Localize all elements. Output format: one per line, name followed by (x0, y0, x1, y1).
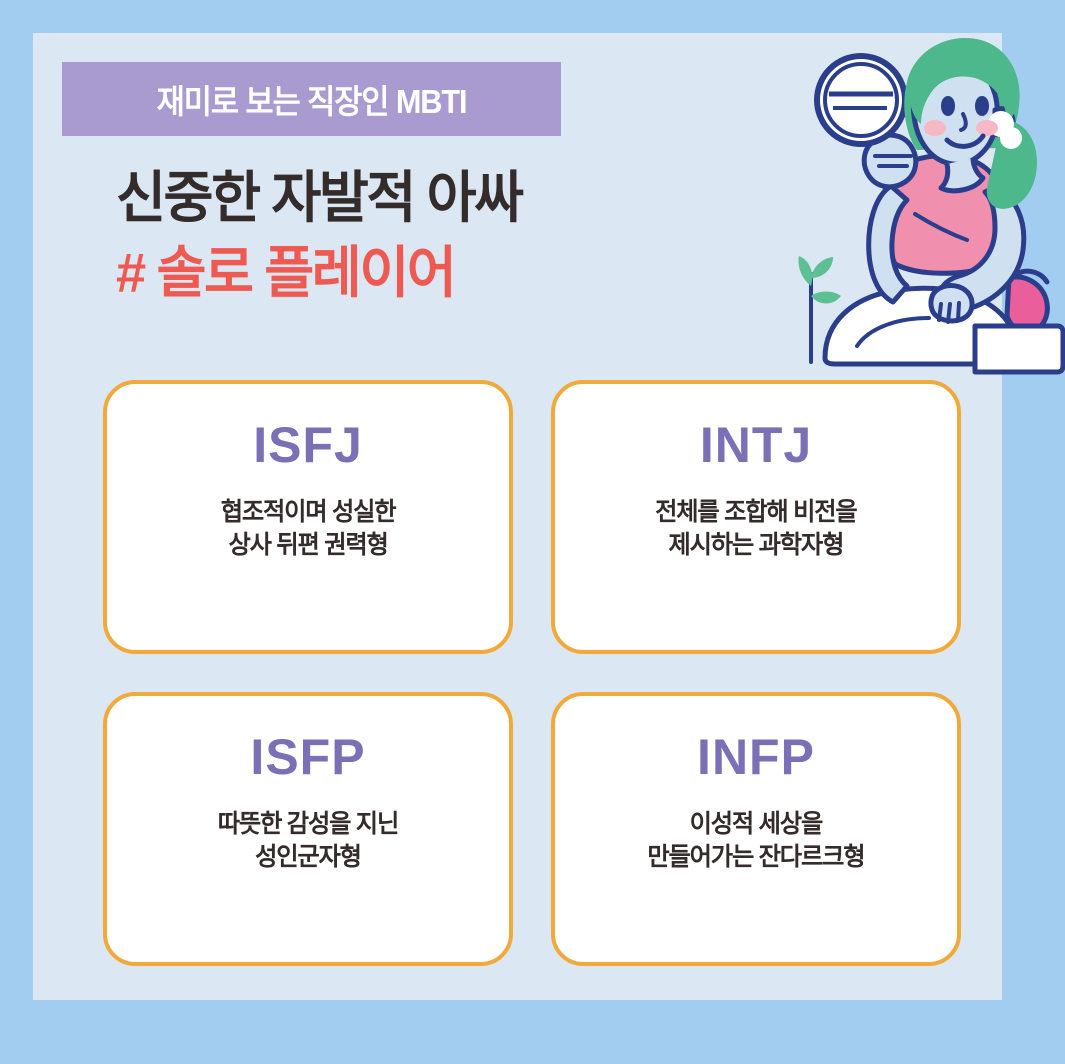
mbti-card-infp[interactable]: INFP 이성적 세상을 만들어가는 잔다르크형 (551, 692, 961, 966)
mbti-description: 전체를 조합해 비전을 제시하는 과학자형 (655, 496, 856, 562)
mbti-description: 이성적 세상을 만들어가는 잔다르크형 (647, 808, 864, 874)
poster-canvas: 재미로 보는 직장인 MBTI 신중한 자발적 아싸 # 솔로 플레이어 (0, 0, 1065, 1064)
mbti-code: INFP (697, 732, 815, 782)
mbti-description: 협조적이며 성실한 상사 뒤편 권력형 (221, 496, 396, 562)
category-badge-label: 재미로 보는 직장인 MBTI (157, 75, 467, 123)
mbti-description: 따뜻한 감성을 지닌 성인군자형 (218, 808, 398, 874)
page-title: 신중한 자발적 아싸 # 솔로 플레이어 (116, 160, 736, 310)
title-line-hashtag: # 솔로 플레이어 (116, 235, 717, 310)
mbti-card-grid: ISFJ 협조적이며 성실한 상사 뒤편 권력형 INTJ 전체를 조합해 비전… (103, 380, 961, 966)
mbti-code: INTJ (700, 420, 812, 470)
title-line-primary: 신중한 자발적 아싸 (116, 160, 717, 235)
mbti-card-isfj[interactable]: ISFJ 협조적이며 성실한 상사 뒤편 권력형 (103, 380, 513, 654)
mbti-code: ISFP (250, 732, 365, 782)
mbti-card-isfp[interactable]: ISFP 따뜻한 감성을 지닌 성인군자형 (103, 692, 513, 966)
mbti-card-intj[interactable]: INTJ 전체를 조합해 비전을 제시하는 과학자형 (551, 380, 961, 654)
category-badge: 재미로 보는 직장인 MBTI (62, 62, 561, 136)
mbti-code: ISFJ (253, 420, 363, 470)
